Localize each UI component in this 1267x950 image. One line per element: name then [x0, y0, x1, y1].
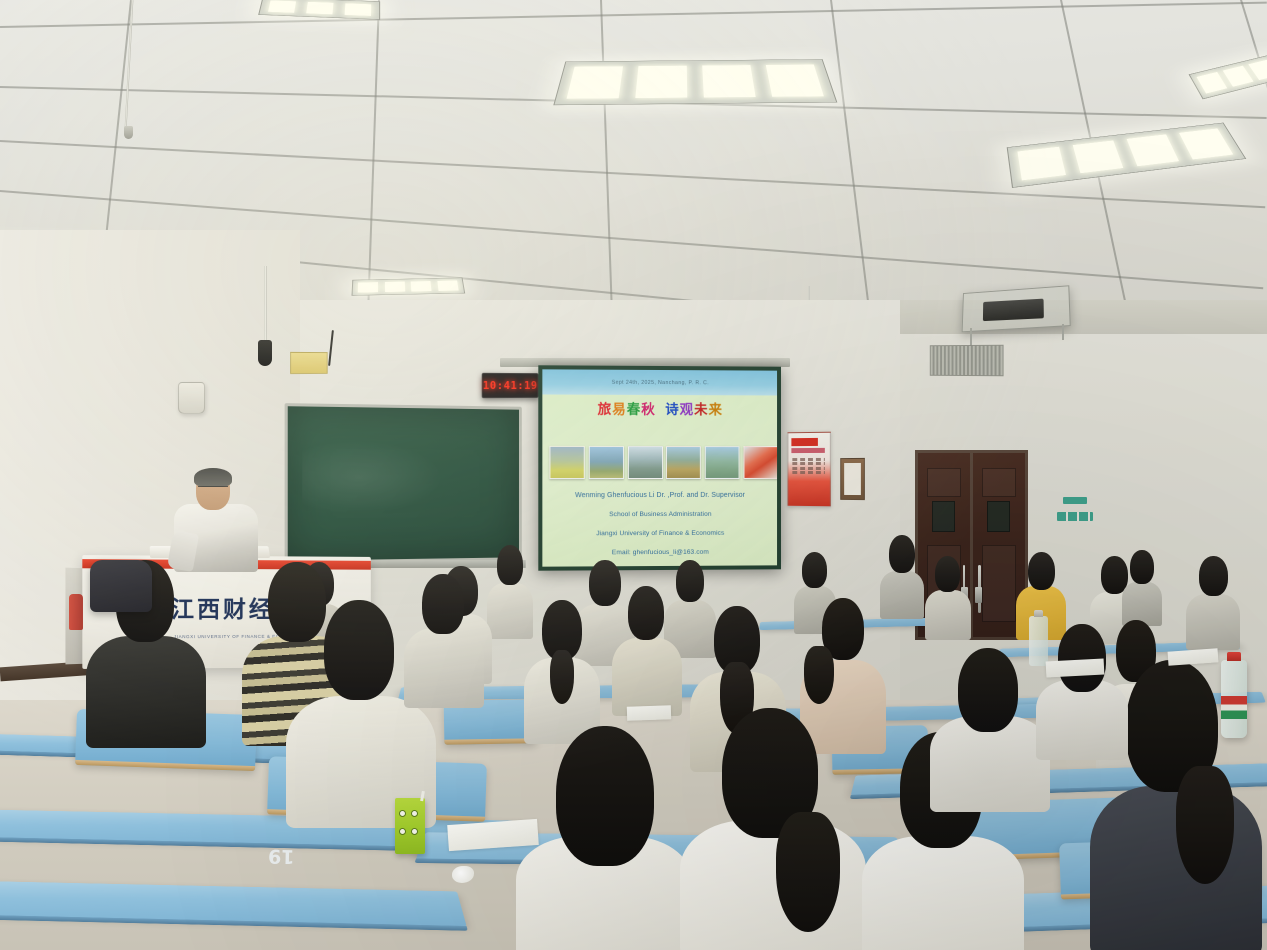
slide-thumbnail: [628, 446, 663, 479]
ceiling-light-fixture: [351, 278, 465, 296]
wall-control-panel[interactable]: [290, 352, 328, 374]
projection-screen: Sept 24th, 2025, Nanchang, P. R. C. 旅易春秋…: [538, 365, 781, 570]
slide-thumbnail: [666, 446, 701, 479]
projector-icon: [983, 299, 1044, 322]
student: [516, 726, 692, 950]
lecturer-glasses-icon: [198, 486, 228, 492]
slide-header-band: Sept 24th, 2025, Nanchang, P. R. C.: [542, 369, 777, 395]
projector-mount-rod: [1062, 324, 1064, 340]
slide-title-char: 春: [627, 402, 642, 417]
water-bottle: [1029, 616, 1048, 666]
camera-mount-pole: [264, 266, 267, 344]
clock-time-display: 10:41:19: [483, 379, 538, 392]
bottle-cap-icon: [1034, 610, 1044, 617]
bottle-cap-icon: [1227, 652, 1242, 661]
slide-university-line: Jiangxi University of Finance & Economic…: [542, 530, 777, 538]
student: [925, 556, 969, 636]
slide-thumbnail: [589, 446, 624, 479]
bottle-label: [1221, 696, 1247, 719]
door-lock-icon[interactable]: [975, 587, 982, 603]
student: [524, 600, 600, 740]
slide-thumbnail: [705, 446, 740, 479]
student: [1036, 624, 1128, 756]
slide-thumbnail: [743, 446, 777, 479]
student: [1122, 550, 1162, 620]
projector-mount-rod: [970, 328, 972, 346]
poster-headline: [791, 438, 818, 446]
ceiling-camera-icon: [258, 340, 272, 366]
classroom-photo: 10:41:19 Sept 24th, 2025, Nanchang, P. R…: [0, 0, 1267, 950]
student: [680, 708, 866, 950]
paper-sheet: [1046, 658, 1105, 677]
slide-title-char: 易: [612, 402, 627, 417]
slide-title-char: 旅: [598, 402, 613, 417]
student: [404, 574, 484, 704]
wall-plaque: [840, 458, 865, 500]
slide-title-char: 来: [709, 402, 723, 417]
student: [930, 648, 1050, 808]
wall-poster: [787, 432, 830, 508]
lecturer: [168, 470, 264, 570]
exit-sign-icon: [1063, 497, 1087, 504]
slide-title-char: 观: [680, 402, 694, 417]
slide-header-text: Sept 24th, 2025, Nanchang, P. R. C.: [612, 379, 709, 385]
slide-thumbnail: [549, 446, 584, 479]
slide-title-char: 秋: [641, 402, 656, 417]
slide-school-line: School of Business Administration: [542, 511, 777, 519]
juice-box: [395, 798, 425, 854]
slide-title: 旅易春秋 诗观未来: [542, 398, 777, 419]
ceiling-soffit: [900, 300, 1267, 334]
sprinkler-head: [124, 126, 133, 139]
air-vent: [930, 345, 1004, 377]
student: [1186, 556, 1240, 648]
student: [880, 535, 924, 615]
presentation-slide: Sept 24th, 2025, Nanchang, P. R. C. 旅易春秋…: [542, 369, 777, 566]
blackboard: [285, 403, 522, 564]
slide-title-char: 诗: [665, 402, 679, 417]
student: [612, 586, 682, 712]
slide-email-line: Email: ghenfucious_li@163.com: [542, 548, 777, 556]
paper-sheet: [627, 705, 671, 721]
digital-wall-clock: 10:41:19: [482, 373, 539, 398]
slide-presenter-line: Wenming Ghenfucious Li Dr. ,Prof. and Dr…: [542, 492, 777, 499]
lecturer-hair: [194, 468, 232, 487]
wall-notice-sign: [1057, 512, 1093, 521]
poster-subheadline: [791, 448, 825, 453]
water-bottle: [1221, 660, 1247, 738]
slide-thumbnail-strip: [549, 446, 777, 482]
desk-number-label: 19: [268, 845, 295, 867]
wall-speaker-icon: [178, 382, 205, 414]
red-bottle: [69, 594, 83, 630]
backpack: [90, 560, 152, 612]
slide-title-char: 未: [694, 402, 708, 417]
ceiling-light-fixture: [553, 59, 837, 105]
